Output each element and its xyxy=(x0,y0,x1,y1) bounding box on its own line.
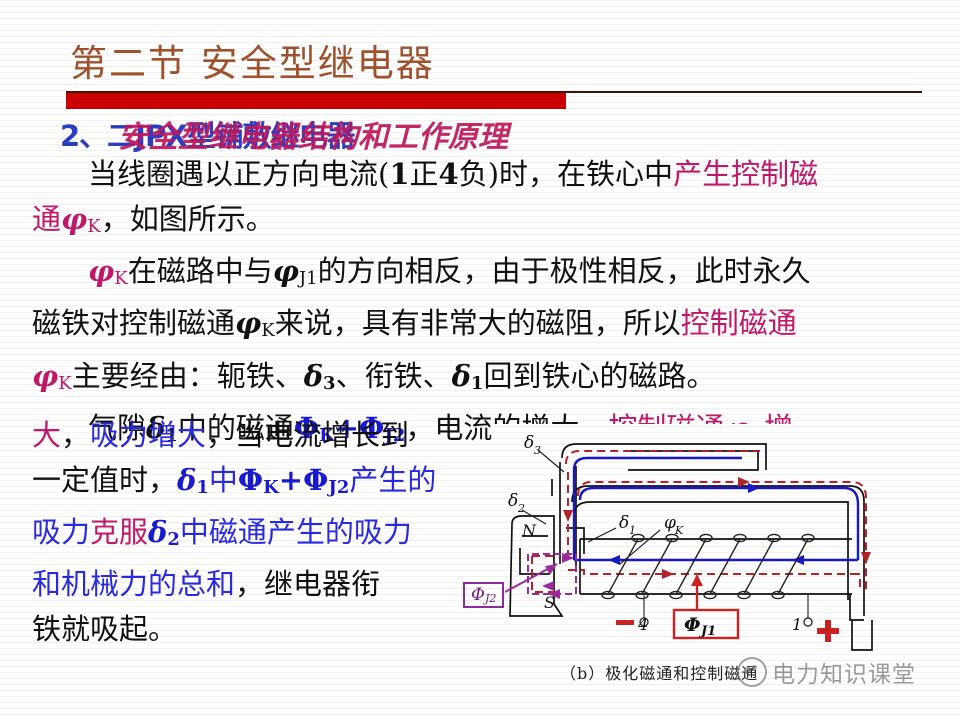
p2-symbol-phi-k3-sub: K xyxy=(58,373,71,394)
paragraph-1-cont: 通φK，如图所示。 xyxy=(32,197,938,249)
p3-symbol-PhiJ2b-sub: J2 xyxy=(328,477,349,498)
p1-highlight-2: 通 xyxy=(32,202,61,236)
p3-blue-4: 和机械力的总和 xyxy=(32,567,235,601)
label-delta1-sub: 1 xyxy=(629,524,636,537)
p1-seg3: 正 xyxy=(410,157,439,191)
p2-symbol-phi-k2-sub: K xyxy=(261,321,274,342)
p1-seg6: )时，在铁心中 xyxy=(488,157,673,191)
p3-seg10: 铁就吸起。 xyxy=(32,612,177,646)
p3-symbol-delta1b-sub: 1 xyxy=(196,477,209,498)
label-delta2-sub: 2 xyxy=(517,502,525,515)
p1-num2: 4 xyxy=(439,157,459,191)
label-terminal-4: 4 xyxy=(637,615,648,634)
p2-symbol-delta1: δ xyxy=(452,359,471,393)
p3-blue-2: 吸力 xyxy=(32,515,90,549)
label-pole-n: N xyxy=(521,521,537,540)
narrow-line-3: 吸力克服δ2中磁通产生的吸力 xyxy=(32,510,502,562)
polarized-flux-arrows xyxy=(563,477,871,579)
p3-seg8: 产生的 xyxy=(349,463,436,497)
minus-sign-icon xyxy=(616,620,634,625)
p3-plus-2: + xyxy=(279,463,303,497)
watermark-logo-icon xyxy=(737,657,767,687)
phi-j2-label: Φ xyxy=(471,585,485,605)
control-flux-path xyxy=(574,458,858,560)
p3-seg6: 一定值时， xyxy=(32,463,177,497)
label-delta3: δ xyxy=(524,433,534,453)
p2-symbol-delta3: δ xyxy=(304,359,323,393)
p2-seg4: 来说，具有非常大的磁阻，所以 xyxy=(275,306,681,340)
p2-seg5: 主要经由：轭铁、 xyxy=(72,359,304,393)
control-flux-arrows xyxy=(608,483,804,565)
paragraph-2-line2: 磁铁对控制磁通φK来说，具有非常大的磁阻，所以控制磁通 xyxy=(32,301,938,353)
label-terminal-1: 1 xyxy=(792,615,802,634)
p3-seg4: ， xyxy=(61,418,90,452)
phi-j2-callout-box: ΦJ2 xyxy=(463,582,504,608)
polarized-flux-path xyxy=(532,451,866,592)
p1-rest: ，如图所示。 xyxy=(101,202,275,236)
phi-j1-label: Φ xyxy=(684,614,701,636)
p1-seg5: 负 xyxy=(459,157,488,191)
p2-seg3: 磁铁对控制磁通 xyxy=(32,306,235,340)
p3-symbol-delta2: δ xyxy=(148,515,167,549)
phi-j2-label-sub: J2 xyxy=(485,592,496,605)
body-narrow-column: 大，吸力增大，当电流增长到 一定值时，δ1中ΦK+ΦJ2产生的 吸力克服δ2中磁… xyxy=(32,413,502,652)
page-title: 第二节 安全型继电器 xyxy=(70,42,435,86)
title-accent-bar xyxy=(66,93,566,109)
p3-seg5: ，当电流增长到 xyxy=(206,418,409,452)
p2-symbol-phi-j1-sub: J1 xyxy=(299,268,318,289)
p3-symbol-delta2-sub: 2 xyxy=(167,529,180,550)
p3-symbol-PhiJ2b: Φ xyxy=(303,463,328,497)
coil-winding xyxy=(602,534,814,598)
p3-highlight-4: 克服 xyxy=(90,515,148,549)
label-leader-lines xyxy=(522,450,660,564)
subtitle-red-layer: 安全型继电器结构和工作原理 xyxy=(118,112,508,156)
p2-symbol-delta1-sub: 1 xyxy=(471,373,484,394)
p3-symbol-delta1b: δ xyxy=(177,463,196,497)
p2-seg6: 、衔铁、 xyxy=(336,359,452,393)
narrow-line-1: 大，吸力增大，当电流增长到 xyxy=(32,413,502,458)
phi-j1-leader-arrow xyxy=(691,574,703,586)
p2-seg2: 的方向相反，由于极性相反，此时永久 xyxy=(318,254,811,288)
p1-symbol-phi-sub: K xyxy=(87,216,100,237)
phi-j2-leader-line xyxy=(505,560,565,600)
p2-symbol-phi-k2: φ xyxy=(235,306,261,340)
p3-symbol-PhiKb: Φ xyxy=(238,463,263,497)
phi-j1-label-sub: J1 xyxy=(698,624,716,639)
paragraph-1: 当线圈遇以正方向电流(1正4负)时，在铁心中产生控制磁 xyxy=(32,152,938,197)
p2-symbol-phi-j1: φ xyxy=(273,254,299,288)
narrow-line-2: 一定值时，δ1中ΦK+ΦJ2产生的 xyxy=(32,458,502,510)
p1-num1: 1 xyxy=(389,157,409,191)
slide-content: 第二节 安全型继电器 2、二JPX型铺敷继电器 安全型继电器结构和工作原理 当线… xyxy=(0,0,960,720)
watermark-text: 电力知识课堂 xyxy=(772,655,916,689)
p2-symbol-phi-k-sub: K xyxy=(114,268,127,289)
p3-symbol-PhiKb-sub: K xyxy=(263,477,279,498)
p1-seg1: 当线圈遇以正方向电流( xyxy=(88,157,389,191)
label-delta2: δ xyxy=(508,491,518,511)
p2-symbol-phi-k3: φ xyxy=(32,359,58,393)
p2-highlight-1: 控制磁通 xyxy=(681,306,797,340)
p2-seg1: 在磁路中与 xyxy=(128,254,273,288)
p3-blue-1: 吸力增大 xyxy=(90,418,206,452)
narrow-line-5: 铁就吸起。 xyxy=(32,607,502,652)
p3-blue-3: 中磁通产生的吸力 xyxy=(180,515,412,549)
p3-seg9: ，继电器衔 xyxy=(235,567,380,601)
paragraph-2: φK在磁路中与φJ1的方向相反，由于极性相反，此时永久 xyxy=(32,249,938,301)
p1-highlight-1: 产生控制磁 xyxy=(673,157,818,191)
p3-highlight-3: 大 xyxy=(32,418,61,452)
narrow-line-4: 和机械力的总和，继电器衔 xyxy=(32,562,502,607)
figure-caption: （b）极化磁通和控制磁通 xyxy=(560,660,758,684)
p2-seg7: 回到铁心的磁路。 xyxy=(483,359,715,393)
terminal-1-post xyxy=(804,618,812,626)
p2-symbol-phi-k: φ xyxy=(88,254,114,288)
watermark: 电力知识课堂 xyxy=(737,655,916,689)
label-delta1: δ xyxy=(619,513,629,533)
paragraph-2-line3: φK主要经由：轭铁、δ3、衔铁、δ1回到铁心的磁路。 xyxy=(32,354,938,406)
plus-sign-icon xyxy=(817,620,839,642)
label-phi-k-sub: K xyxy=(674,524,684,537)
p3-seg7: 中 xyxy=(209,463,238,497)
label-delta3-sub: 3 xyxy=(534,444,541,457)
p1-symbol-phi: φ xyxy=(61,202,87,236)
p2-symbol-delta3-sub: 3 xyxy=(323,373,336,394)
